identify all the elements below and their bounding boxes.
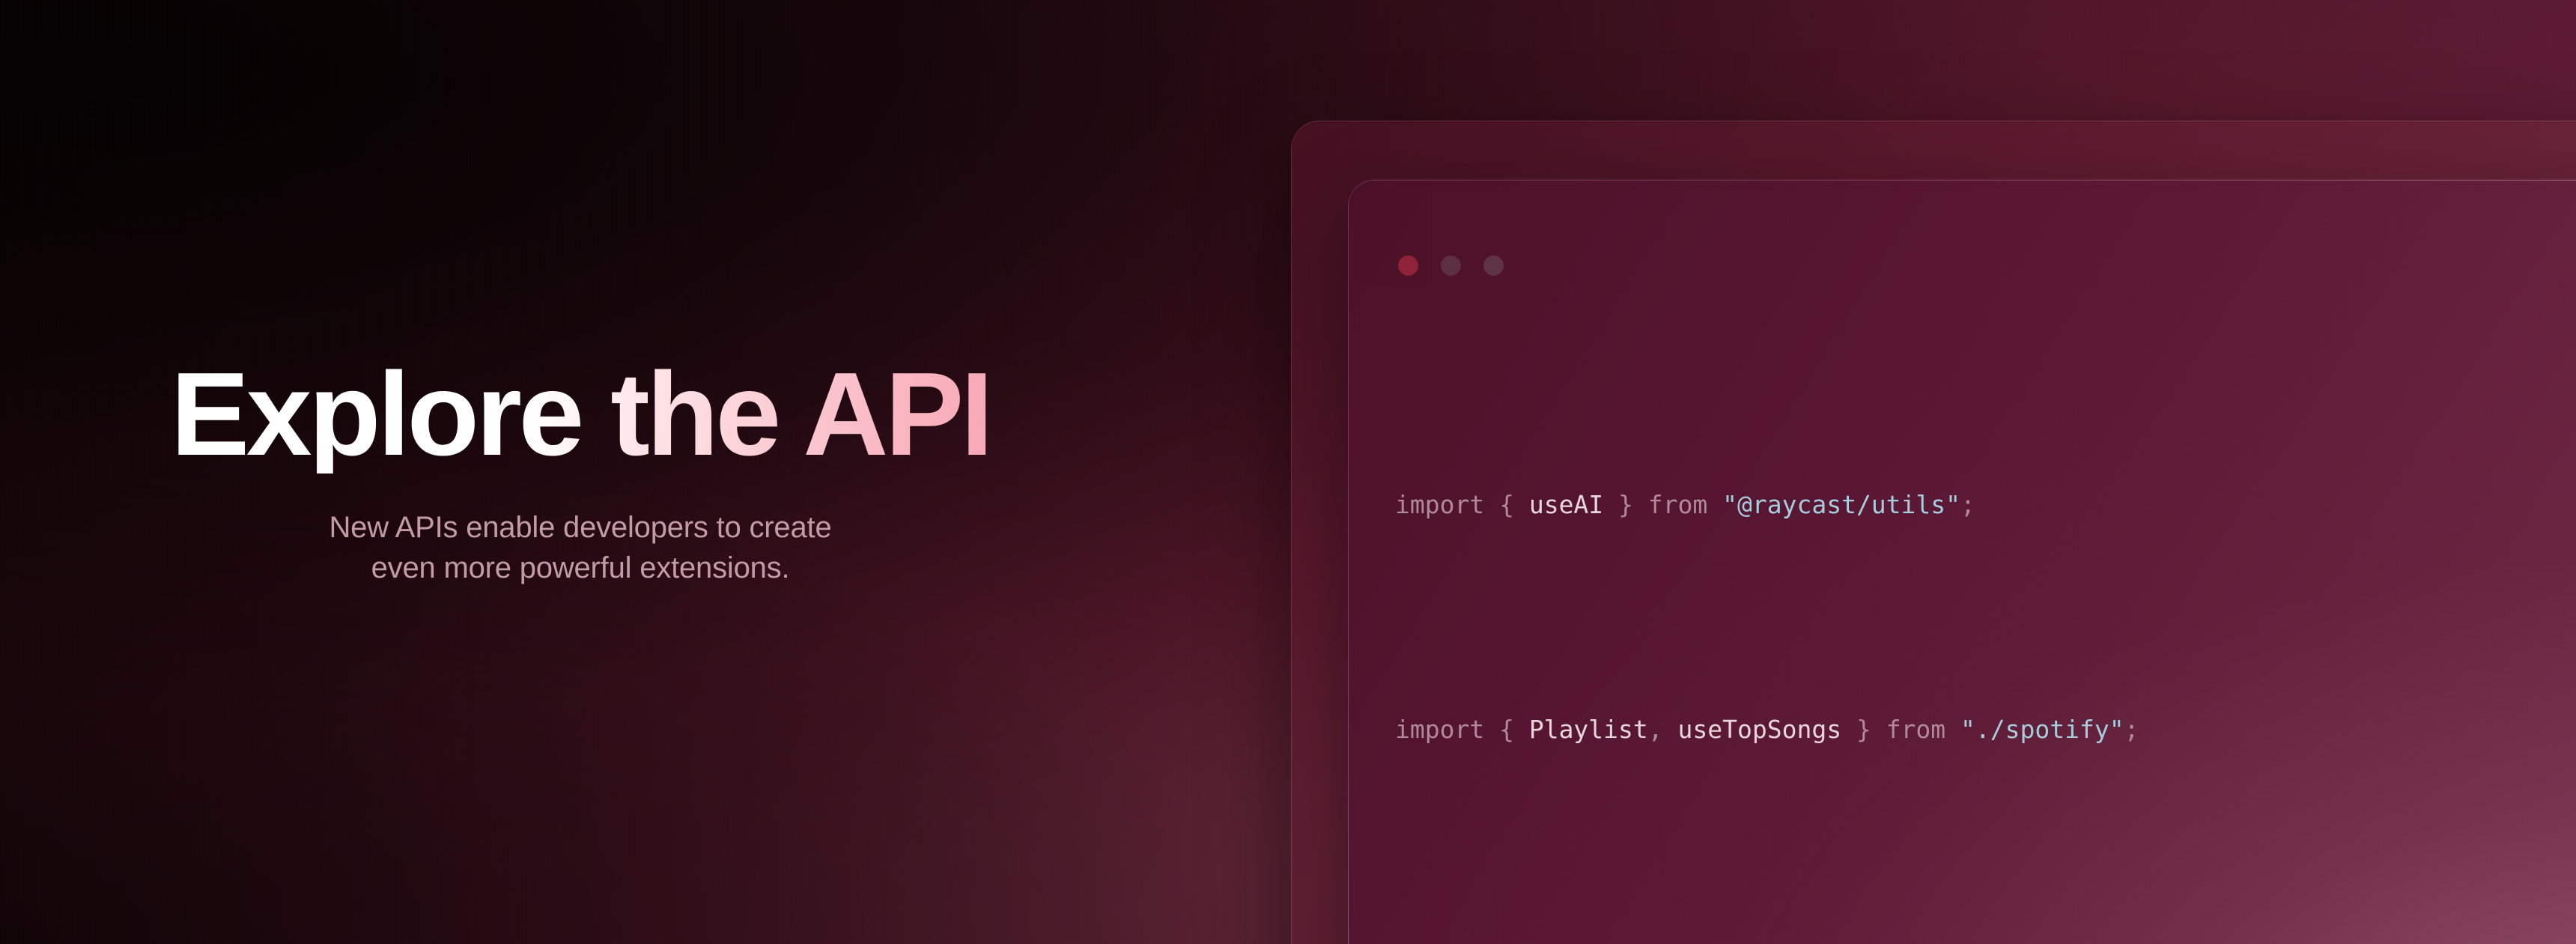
token-identifier: useAI: [1529, 490, 1603, 519]
window-traffic-lights: [1398, 255, 1504, 276]
token-identifier: Playlist: [1529, 715, 1648, 744]
token-keyword: from: [1886, 715, 1945, 744]
token-keyword: from: [1648, 490, 1707, 519]
page-title: Explore the API: [171, 355, 990, 473]
token-punctuation: {: [1484, 715, 1529, 744]
token-punctuation: {: [1484, 490, 1529, 519]
hero-banner: Explore the API New APIs enable develope…: [0, 0, 2576, 944]
hero-subtitle: New APIs enable developers to create eve…: [318, 508, 842, 588]
code-line-1: import { useAI } from "@raycast/utils";: [1395, 476, 2576, 533]
token-identifier: useTopSongs: [1678, 715, 1842, 744]
token-string: "./spotify": [1945, 715, 2124, 744]
token-punctuation: ;: [1960, 490, 1975, 519]
code-line-blank: [1395, 926, 2576, 944]
token-keyword: import: [1395, 490, 1484, 519]
minimize-window-icon[interactable]: [1441, 255, 1461, 276]
token-string: "@raycast/utils": [1707, 490, 1960, 519]
code-block: import { useAI } from "@raycast/utils"; …: [1395, 308, 2576, 944]
maximize-window-icon[interactable]: [1483, 255, 1504, 276]
token-keyword: import: [1395, 715, 1484, 744]
code-window-front-card: import { useAI } from "@raycast/utils"; …: [1348, 180, 2576, 944]
close-window-icon[interactable]: [1398, 255, 1418, 276]
token-punctuation: ;: [2124, 715, 2139, 744]
code-line-2: import { Playlist, useTopSongs } from ".…: [1395, 701, 2576, 757]
token-punctuation: }: [1841, 715, 1886, 744]
token-punctuation: }: [1603, 490, 1648, 519]
hero-copy-block: Explore the API New APIs enable develope…: [0, 0, 1153, 944]
token-punctuation: ,: [1648, 715, 1678, 744]
